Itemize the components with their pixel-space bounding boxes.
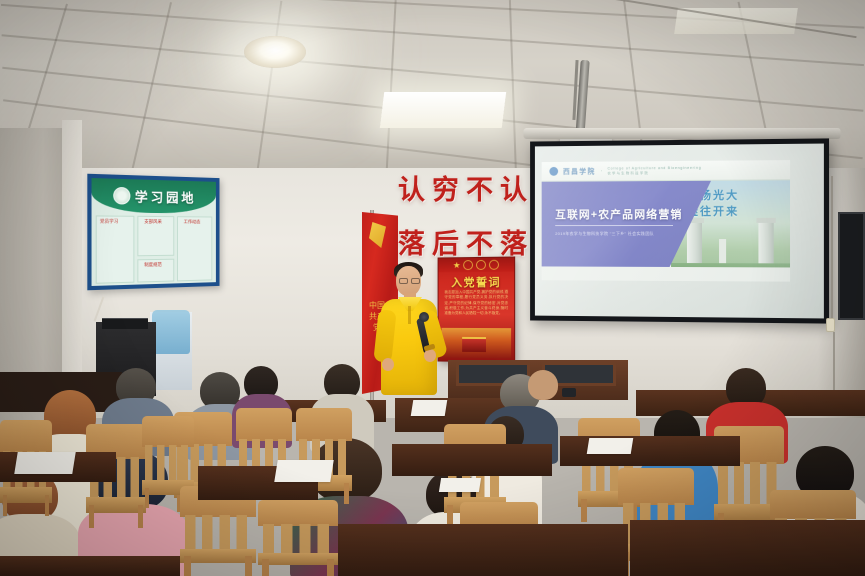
paper-sheet <box>439 478 481 492</box>
presenter-left-hand <box>382 358 394 371</box>
photo-scene: 学习园地 党员学习 支部风采 工作动态 制度规范 认穷不认输 落后不落伍 中国共… <box>0 0 865 576</box>
shirt-placket <box>408 306 411 324</box>
eyeglasses-icon <box>399 278 408 284</box>
microphone-head-icon <box>419 312 429 322</box>
audience-table <box>392 444 552 476</box>
audience-table <box>630 520 865 576</box>
audience-table <box>0 556 180 576</box>
paper-sheet <box>274 460 333 482</box>
eyeglasses-icon <box>411 278 420 284</box>
paper-sheet <box>587 438 634 454</box>
audience-table <box>338 524 628 576</box>
paper-sheet <box>14 452 75 474</box>
wooden-chair <box>258 500 338 576</box>
